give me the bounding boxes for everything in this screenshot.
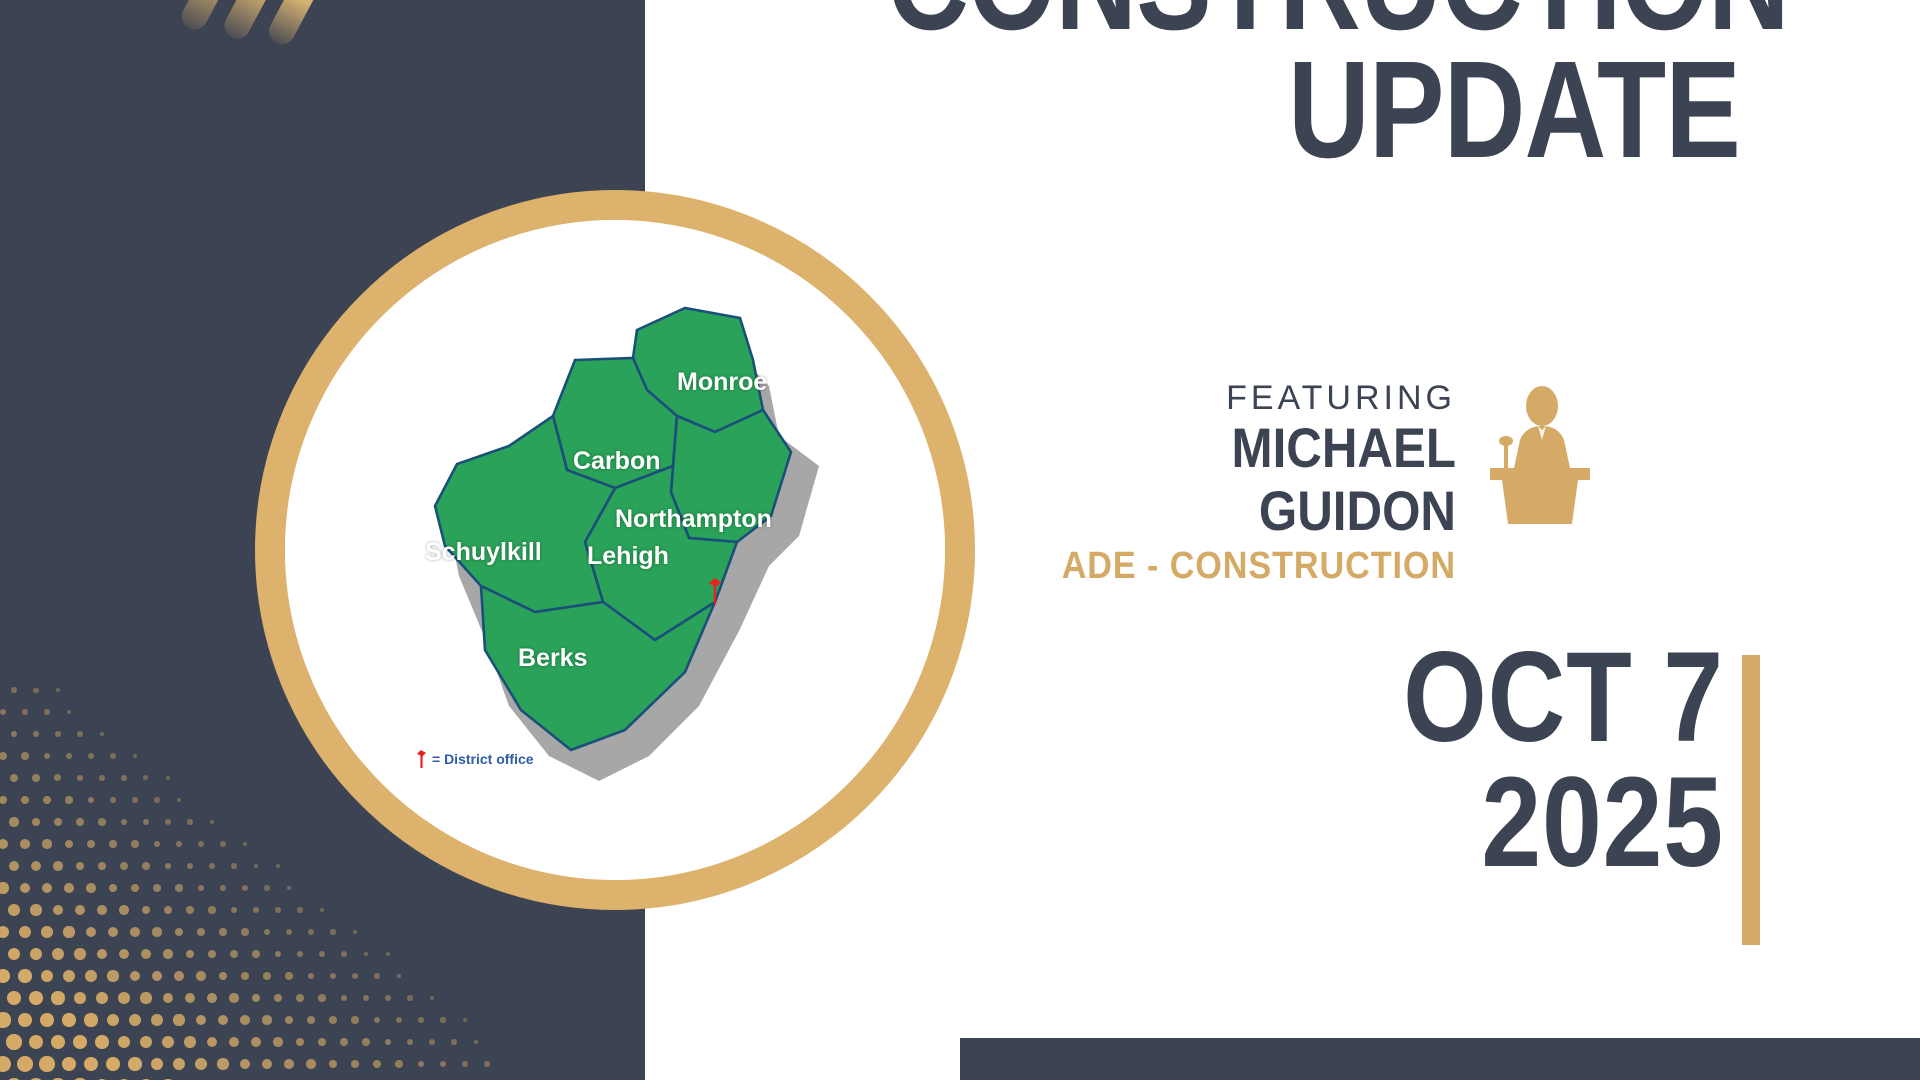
map-label-monroe: Monroe: [677, 368, 767, 397]
event-date: OCT 7 2025: [1342, 635, 1724, 886]
podium-speaker-icon: [1480, 384, 1600, 524]
bottom-navy-bar: [960, 1038, 1920, 1080]
featured-speaker-text: FEATURING MICHAEL GUIDON ADE - CONSTRUCT…: [1000, 380, 1456, 590]
map-legend-label: = District office: [432, 751, 534, 767]
poster-headline: CONSTRUCTION UPDATE: [887, 0, 1740, 175]
speaker-role: ADE - CONSTRUCTION: [1046, 543, 1456, 591]
map-badge-circle: Monroe Carbon Northampton Schuylkill Leh…: [255, 190, 975, 910]
headline-line-2: UPDATE: [887, 46, 1740, 174]
date-accent-bar: [1742, 655, 1760, 945]
map-label-carbon: Carbon: [573, 447, 661, 476]
featuring-label: FEATURING: [1000, 380, 1456, 417]
speaker-name: MICHAEL GUIDON: [1055, 417, 1456, 542]
map-label-lehigh: Lehigh: [587, 542, 669, 571]
map-container: Monroe Carbon Northampton Schuylkill Leh…: [285, 220, 945, 880]
map-legend: = District office: [417, 750, 534, 768]
map-pin-icon: [417, 750, 426, 768]
event-date-line-1: OCT 7: [1403, 635, 1724, 760]
map-label-schuylkill: Schuylkill: [425, 538, 542, 567]
map-label-berks: Berks: [518, 644, 588, 673]
poster-canvas: Monroe Carbon Northampton Schuylkill Leh…: [0, 0, 1920, 1080]
featured-speaker-block: FEATURING MICHAEL GUIDON ADE - CONSTRUCT…: [1000, 380, 1600, 590]
map-label-northampton: Northampton: [615, 505, 772, 534]
event-date-line-2: 2025: [1403, 760, 1724, 885]
